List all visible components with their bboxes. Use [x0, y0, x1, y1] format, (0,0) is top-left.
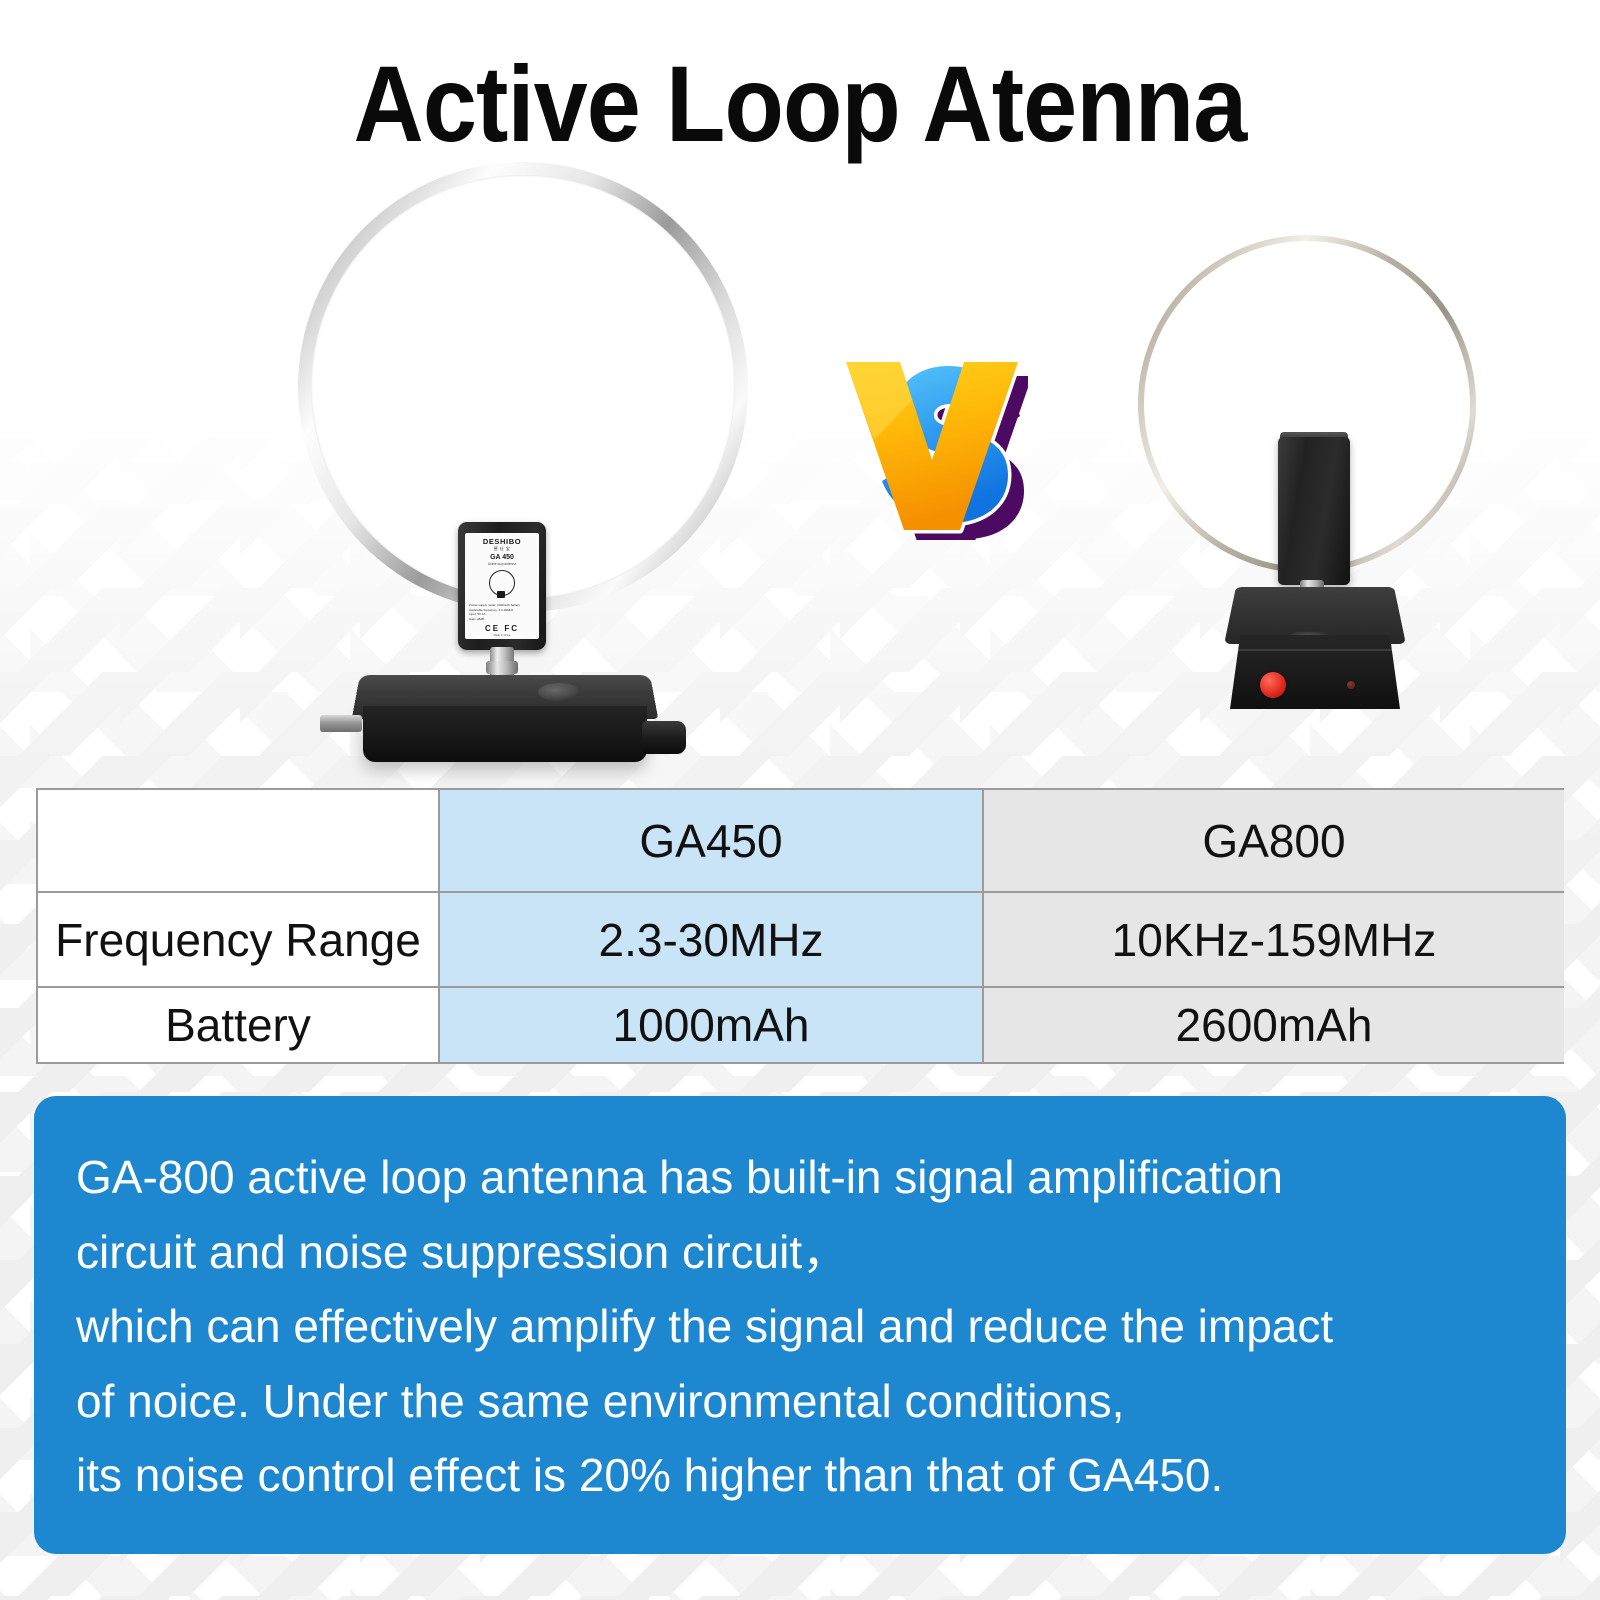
- description-line-5: its noise control effect is 20% higher t…: [76, 1438, 1510, 1513]
- base-front-ga800: [1230, 635, 1400, 709]
- infographic-canvas: Active Loop Atenna DESHIBO 德 仕 宝 GA 450 …: [0, 0, 1600, 1600]
- table-cell-ga450-frequency: 2.3-30MHz: [440, 893, 984, 988]
- led-indicator-ga800: [1347, 681, 1355, 689]
- base-logo-ga450: [538, 683, 581, 701]
- diagram-module: [497, 591, 505, 598]
- label-spec-4: Gain: ≥8dB: [469, 617, 535, 622]
- label-footer: Made in China: [465, 634, 539, 637]
- description-line-4: of noice. Under the same environmental c…: [76, 1364, 1510, 1439]
- table-row-label-battery: Battery: [38, 988, 440, 1062]
- label-subtitle: Active loop antenna: [465, 562, 539, 566]
- table-cell-ga800-frequency: 10KHz-159MHz: [984, 893, 1564, 988]
- label-brand: DESHIBO: [465, 537, 539, 546]
- versus-badge: [808, 340, 1028, 540]
- vs-icon: [808, 340, 1028, 540]
- product-label-ga450: DESHIBO 德 仕 宝 GA 450 Active loop antenna…: [465, 533, 539, 639]
- table-header-blank: [38, 790, 440, 893]
- page-title: Active Loop Atenna: [80, 46, 1520, 163]
- table-cell-ga450-battery: 1000mAh: [440, 988, 984, 1062]
- comparison-table: GA450 GA800 Frequency Range 2.3-30MHz 10…: [36, 788, 1564, 1064]
- label-model: GA 450: [465, 554, 539, 561]
- description-line-3: which can effectively amplify the signal…: [76, 1289, 1510, 1364]
- product-image-ga800: [1060, 235, 1530, 755]
- base-seam-ga800: [1236, 649, 1394, 651]
- base-front-ga450: [363, 706, 647, 762]
- table-header-ga450: GA450: [440, 790, 984, 893]
- table-header-ga800: GA800: [984, 790, 1564, 893]
- product-image-ga450: DESHIBO 德 仕 宝 GA 450 Active loop antenna…: [250, 150, 770, 770]
- certification-marks-icon: CE FC: [465, 624, 539, 633]
- table-row-label-frequency: Frequency Range: [38, 893, 440, 988]
- description-line-2: circuit and noise suppression circuit，: [76, 1215, 1510, 1290]
- side-knob-ga450: [642, 721, 686, 754]
- amplifier-module-ga450: DESHIBO 德 仕 宝 GA 450 Active loop antenna…: [458, 522, 546, 650]
- side-bnc-port-ga450: [320, 715, 362, 732]
- loop-diagram-icon: [487, 570, 517, 600]
- description-line-1: GA-800 active loop antenna has built-in …: [76, 1140, 1510, 1215]
- table-cell-ga800-battery: 2600mAh: [984, 988, 1564, 1062]
- power-button-ga800[interactable]: [1260, 672, 1286, 698]
- label-brand-cn: 德 仕 宝: [465, 546, 539, 552]
- description-panel: GA-800 active loop antenna has built-in …: [34, 1096, 1566, 1554]
- amplifier-module-ga800: [1278, 437, 1350, 585]
- label-specs: Power supply mode: 1000mAh battery Appli…: [465, 603, 539, 622]
